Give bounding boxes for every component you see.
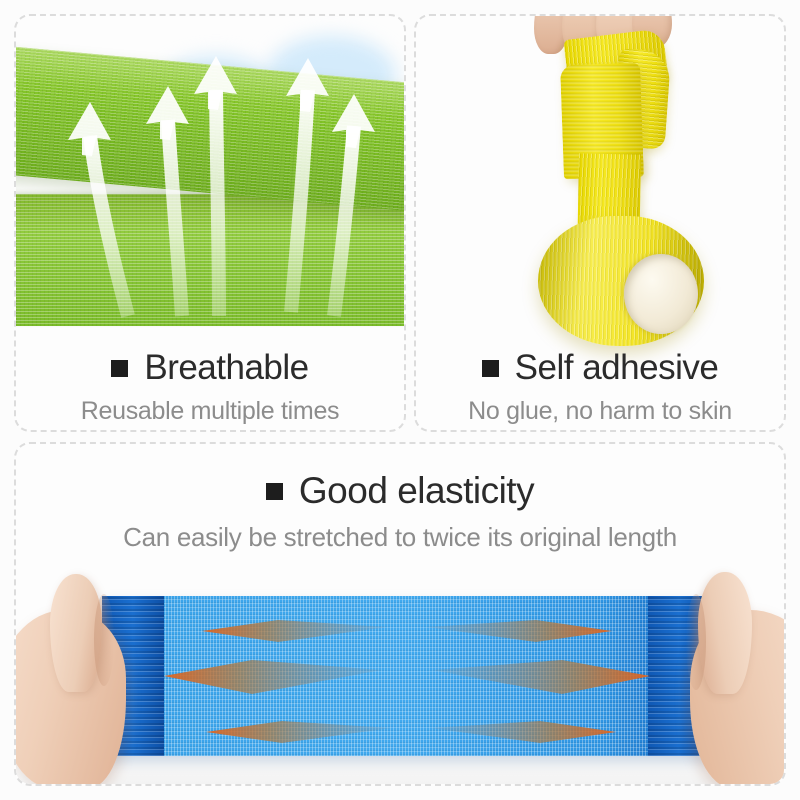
finger-shadow: [94, 594, 114, 686]
yellow-roll-composition: [416, 16, 784, 346]
panel-title-breathable: Breathable: [16, 348, 404, 388]
panel-adhesive: Self adhesive No glue, no harm to skin: [414, 14, 786, 432]
panel-elasticity: Good elasticity Can easily be stretched …: [14, 442, 786, 786]
green-bandage-composition: [16, 16, 404, 334]
blue-bandage-stretch-photo: [16, 444, 784, 784]
hand-right-gripping: [668, 580, 784, 784]
panel-subtitle-adhesive: No glue, no harm to skin: [416, 397, 784, 426]
panel-title-adhesive: Self adhesive: [416, 348, 784, 388]
square-bullet-icon: [482, 360, 499, 377]
roll-core-hole: [624, 254, 698, 334]
blue-stretch-composition: [16, 444, 784, 784]
caption-adhesive: Self adhesive No glue, no harm to skin: [416, 348, 784, 426]
finger-shadow: [686, 594, 706, 690]
hand-left-gripping: [16, 580, 148, 784]
airflow-arrows: [16, 16, 404, 334]
infographic-stage: Breathable Reusable multiple times: [0, 0, 800, 800]
panel-breathable: Breathable Reusable multiple times: [14, 14, 406, 432]
panel-title-text: Self adhesive: [515, 348, 719, 388]
caption-breathable: Breathable Reusable multiple times: [16, 348, 404, 426]
panel-subtitle-breathable: Reusable multiple times: [16, 397, 404, 426]
square-bullet-icon: [111, 360, 128, 377]
index-finger: [698, 572, 752, 694]
panel-title-text: Breathable: [144, 348, 308, 388]
